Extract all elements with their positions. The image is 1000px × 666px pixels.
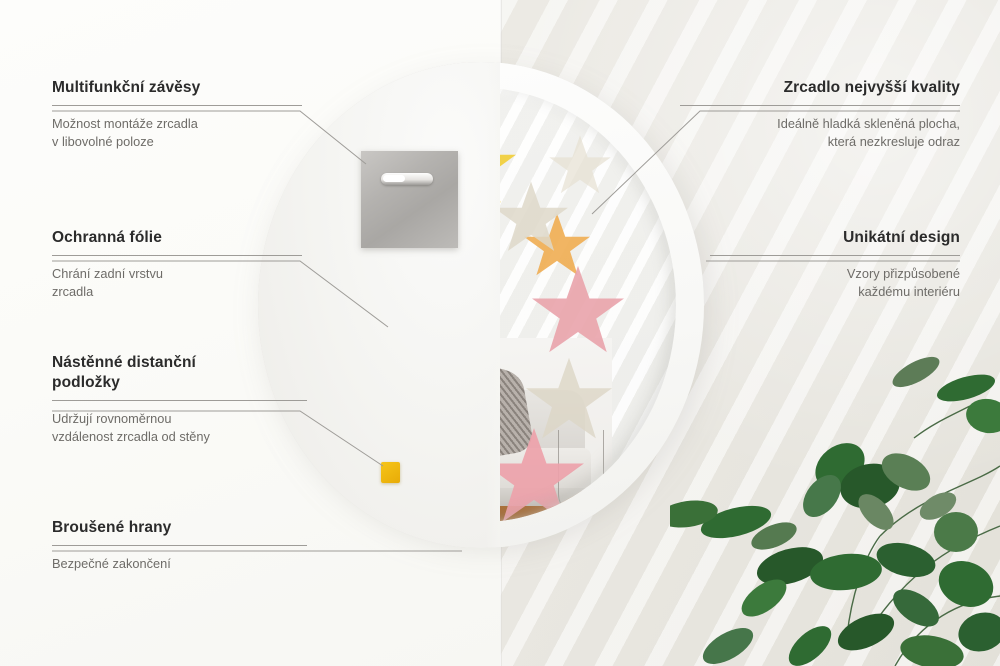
callout-body-line: která nezkresluje odraz [680, 133, 960, 152]
callout-body-line: zrcadla [52, 283, 302, 302]
mirror-body [258, 62, 704, 548]
callout-rule [52, 255, 302, 256]
wall-spacer-pad [381, 462, 400, 483]
hanger-keyhole-slot [381, 173, 433, 185]
callout-title-line: Nástěnné distanční [52, 353, 307, 373]
callout-rule [52, 400, 307, 401]
callout-body-line: Vzory přizpůsobené [710, 265, 960, 284]
callout-multifunkcni-zavesy: Multifunkční závěsy Možnost montáže zrca… [52, 78, 302, 152]
callout-rule [710, 255, 960, 256]
callout-body: Udržují rovnoměrnou vzdálenost zrcadla o… [52, 410, 307, 447]
callout-body-line: každému interiéru [710, 283, 960, 302]
callout-title: Unikátní design [710, 228, 960, 248]
callout-body-line: Udržují rovnoměrnou [52, 410, 307, 429]
foliage-leaves [670, 351, 1000, 666]
mirror-glass [500, 88, 676, 522]
callout-body: Vzory přizpůsobené každému interiéru [710, 265, 960, 302]
callout-body-line: v libovolné poloze [52, 133, 302, 152]
callout-body: Možnost montáže zrcadla v libovolné polo… [52, 115, 302, 152]
callout-body: Ideálně hladká skleněná plocha, která ne… [680, 115, 960, 152]
callout-rule [52, 105, 302, 106]
callout-brousene-hrany: Broušené hrany Bezpečné zakončení [52, 518, 307, 573]
callout-title: Ochranná fólie [52, 228, 302, 248]
callout-nastenne-distancni-podlozky: Nástěnné distanční podložky Udržují rovn… [52, 353, 307, 447]
callout-unikatni-design: Unikátní design Vzory přizpůsobené každé… [710, 228, 960, 302]
callout-rule [680, 105, 960, 106]
callout-body-line: Možnost montáže zrcadla [52, 115, 302, 134]
callout-body-line: Bezpečné zakončení [52, 555, 307, 574]
callout-title: Nástěnné distanční podložky [52, 353, 307, 393]
callout-body-line: vzdálenost zrcadla od stěny [52, 428, 307, 447]
callout-body: Bezpečné zakončení [52, 555, 307, 574]
callout-rule [52, 545, 307, 546]
callout-body-line: Chrání zadní vrstvu [52, 265, 302, 284]
callout-title: Multifunkční závěsy [52, 78, 302, 98]
callout-ochranna-folie: Ochranná fólie Chrání zadní vrstvu zrcad… [52, 228, 302, 302]
callout-body-line: Ideálně hladká skleněná plocha, [680, 115, 960, 134]
foliage-decoration [670, 346, 1000, 666]
callout-title: Broušené hrany [52, 518, 307, 538]
mirror-product [258, 62, 710, 552]
hanging-plate [361, 151, 458, 248]
infographic-canvas: Multifunkční závěsy Možnost montáže zrca… [0, 0, 1000, 666]
callout-zrcadlo-nejvyssi-kvality: Zrcadlo nejvyšší kvality Ideálně hladká … [680, 78, 960, 152]
callout-title-line: podložky [52, 373, 307, 393]
callout-body: Chrání zadní vrstvu zrcadla [52, 265, 302, 302]
callout-title: Zrcadlo nejvyšší kvality [680, 78, 960, 98]
